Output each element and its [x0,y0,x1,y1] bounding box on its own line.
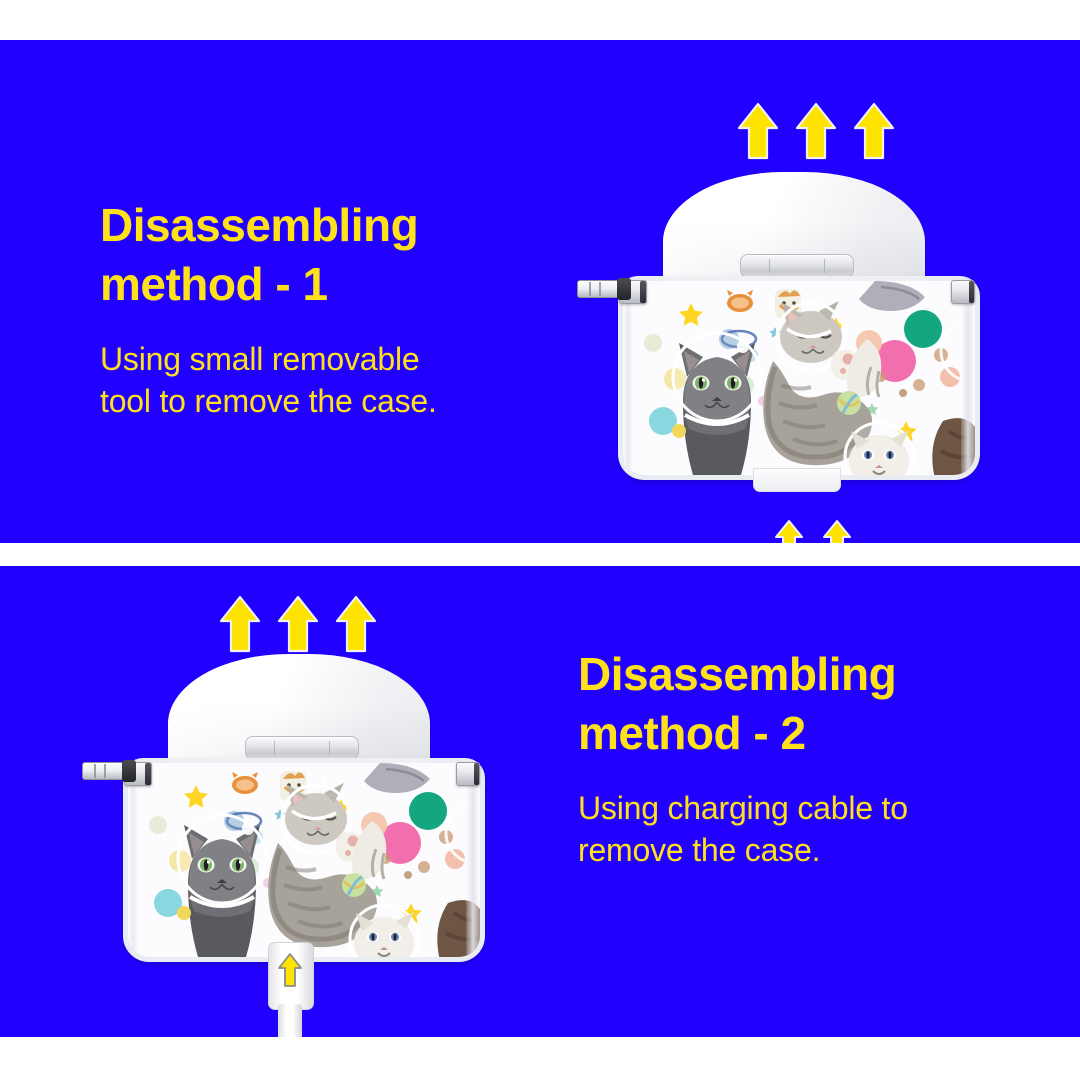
case-shell-interior [623,281,975,475]
shell-inner-rail-right-2 [466,763,480,957]
charging-cable-cord [278,1004,302,1037]
shell-inner-rail-left [623,281,633,475]
lid-hinge-bar-2 [245,736,359,760]
method-1-subtext: Using small removable tool to remove the… [100,338,570,422]
shell-inner-rail-right [961,281,975,475]
airpods-case-method-2 [90,652,510,1037]
method-1-text-block: Disassembling method - 1 Using small rem… [100,196,570,422]
case-bottom-tab [753,468,841,492]
case-shell-interior-2 [128,763,480,957]
case-side-strip [82,762,134,780]
arrow-up-large-6 [334,595,378,653]
arrow-up-large-1 [736,102,780,160]
frame-band-bottom [0,1037,1080,1080]
arrow-up-small-2 [822,519,852,543]
arrow-up-small-1 [774,519,804,543]
shell-inner-rail-left-2 [128,763,138,957]
arrow-up-large-2 [794,102,838,160]
panel-method-1: Disassembling method - 1 Using small rem… [0,40,1080,543]
method-2-text-block: Disassembling method - 2 Using charging … [578,645,1008,871]
arrow-up-large-4 [218,595,262,653]
case-clip-right [951,280,975,304]
instruction-graphic: Disassembling method - 1 Using small rem… [0,0,1080,1080]
method-1-headline: Disassembling method - 1 [100,196,570,314]
case-clip-right-2 [456,762,480,786]
panel-method-2: Disassembling method - 2 Using charging … [0,566,1080,1037]
lid-hinge-bar [740,254,854,278]
white-cat-2 [350,905,418,957]
airpods-case-method-1 [585,170,1005,500]
white-cat [845,423,913,475]
panel-divider [0,543,1080,566]
method-2-headline: Disassembling method - 2 [578,645,1008,763]
arrow-up-large-5 [276,595,320,653]
method-2-subtext: Using charging cable to remove the case. [578,787,1008,871]
arrow-up-connector [277,952,303,988]
frame-band-top [0,0,1080,40]
removal-tool [577,280,629,298]
cat-artwork-print [623,281,975,475]
cat-artwork-print-2 [128,763,480,957]
clear-case-shell-2 [123,758,485,962]
arrow-up-large-3 [852,102,896,160]
clear-case-shell [618,276,980,480]
